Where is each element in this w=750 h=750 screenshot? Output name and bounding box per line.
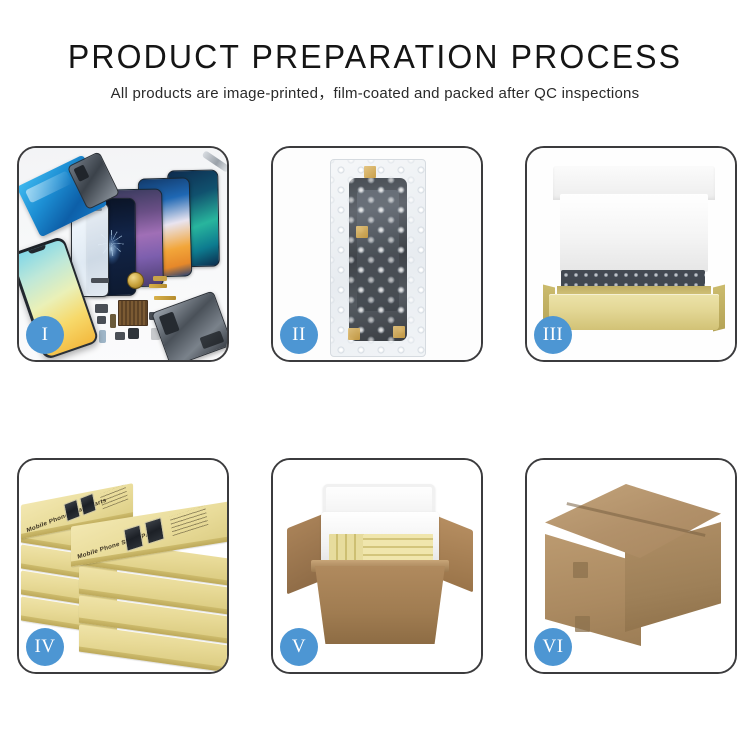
carton-tape-square-lower [575, 616, 590, 632]
box-label-screen-thumb-l1 [63, 499, 80, 522]
open-shipping-carton [287, 482, 473, 650]
process-step-panel-5[interactable]: V [271, 458, 483, 674]
open-yellow-box [543, 166, 725, 336]
flex-cable-2 [154, 296, 176, 300]
carton-tape-square-upper [573, 562, 588, 578]
part-camera-module [128, 328, 139, 339]
tape-piece-bottom-right [393, 326, 405, 338]
page-header: PRODUCT PREPARATION PROCESS All products… [0, 0, 750, 104]
gold-component-icon [127, 272, 144, 289]
step-badge-6: VI [534, 628, 572, 666]
flex-cable-1 [149, 284, 167, 288]
box-label-spec-lines-left [100, 484, 129, 509]
part-ic-1 [95, 304, 108, 313]
box-tray-front-wall [549, 294, 719, 330]
bga-chip-grid [118, 300, 148, 326]
process-step-grid: I II [17, 146, 737, 674]
box-label-screen-thumb-l2 [79, 493, 96, 516]
part-battery-strip [99, 330, 106, 343]
page-subtitle: All products are image-printed，film-coat… [0, 84, 750, 104]
tape-piece-bottom-left [348, 328, 360, 340]
box-label-spec-lines-right [170, 506, 209, 537]
part-connector-1 [91, 278, 109, 283]
box-label-screen-thumb-r1 [123, 524, 143, 551]
step-badge-5: V [280, 628, 318, 666]
bubble-texture-overlay [331, 160, 425, 356]
step-badge-3: III [534, 316, 572, 354]
white-foam-sheet [560, 194, 708, 272]
part-connector-2 [153, 276, 167, 281]
part-ribbon-1 [110, 314, 116, 328]
tape-piece-top [364, 166, 376, 178]
step-badge-1: I [26, 316, 64, 354]
process-step-panel-1[interactable]: I [17, 146, 229, 362]
page-title: PRODUCT PREPARATION PROCESS [11, 38, 739, 76]
part-ic-2 [97, 316, 106, 324]
step-badge-2: II [280, 316, 318, 354]
step-badge-4: IV [26, 628, 64, 666]
process-step-panel-3[interactable]: III [525, 146, 737, 362]
box-label-screen-thumb-r2 [144, 517, 164, 544]
part-speaker [115, 332, 125, 340]
process-step-panel-6[interactable]: VI [525, 458, 737, 674]
tape-piece-middle [356, 226, 368, 238]
sealed-shipping-carton [545, 484, 721, 650]
process-step-panel-4[interactable]: Mobile Phone Spare Parts Mobile Phone Sp… [17, 458, 229, 674]
bubble-wrap-bag [330, 159, 426, 357]
process-step-panel-2[interactable]: II [271, 146, 483, 362]
carton-body [315, 566, 445, 644]
